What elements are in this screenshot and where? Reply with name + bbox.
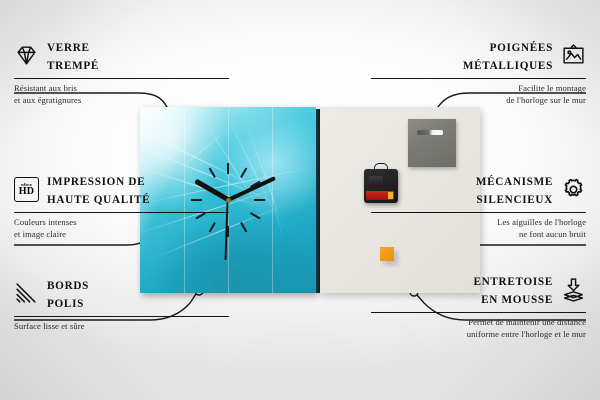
callout-subtitle: Permet de maintenir une distance uniform…	[371, 317, 586, 340]
diamond-icon	[14, 43, 39, 68]
callout-title: VERRE TREMPÉ	[47, 38, 99, 74]
callout-title: BORDS POLIS	[47, 276, 89, 312]
polished-edge-icon	[14, 281, 39, 306]
callout-entretoise-en-mousse: ENTRETOISE EN MOUSSE Permet de maintenir…	[371, 272, 586, 340]
callout-poignees-metalliques: POIGNÉES MÉTALLIQUES Facilite le montage…	[371, 38, 586, 106]
callout-divider	[371, 212, 586, 213]
gear-icon	[561, 177, 586, 202]
callout-divider	[14, 212, 229, 213]
callout-impression-haute-qualite: ultra HD IMPRESSION DE HAUTE QUALITÉ Cou…	[14, 172, 229, 240]
mechanism-hook	[374, 163, 388, 171]
infographic-canvas: VERRE TREMPÉ Résistant aux bris et aux é…	[0, 0, 600, 400]
callout-subtitle: Résistant aux bris et aux égratignures	[14, 83, 229, 106]
callout-title: IMPRESSION DE HAUTE QUALITÉ	[47, 172, 150, 208]
hanger-plate-part	[408, 119, 456, 167]
callout-title: ENTRETOISE EN MOUSSE	[473, 272, 553, 308]
callout-divider	[14, 78, 229, 79]
callout-verre-trempe: VERRE TREMPÉ Résistant aux bris et aux é…	[14, 38, 229, 106]
callout-subtitle: Couleurs intenses et image claire	[14, 217, 229, 240]
callout-mecanisme-silencieux: MÉCANISME SILENCIEUX Les aiguilles de l'…	[371, 172, 586, 240]
callout-title: POIGNÉES MÉTALLIQUES	[463, 38, 553, 74]
foam-spacer-part	[380, 247, 394, 261]
foam-spacer-icon	[561, 277, 586, 302]
callout-title: MÉCANISME SILENCIEUX	[476, 172, 553, 208]
callout-subtitle: Facilite le montage de l'horloge sur le …	[371, 83, 586, 106]
callout-divider	[14, 316, 229, 317]
callout-subtitle: Surface lisse et sûre	[14, 321, 229, 333]
callout-subtitle: Les aiguilles de l'horloge ne font aucun…	[371, 217, 586, 240]
callout-head: VERRE TREMPÉ	[14, 38, 229, 74]
callout-bords-polis: BORDS POLIS Surface lisse et sûre	[14, 276, 229, 333]
callout-divider	[371, 312, 586, 313]
callout-divider	[371, 78, 586, 79]
callout-head: BORDS POLIS	[14, 276, 229, 312]
callout-head: ultra HD IMPRESSION DE HAUTE QUALITÉ	[14, 172, 229, 208]
callout-head: MÉCANISME SILENCIEUX	[371, 172, 586, 208]
ultra-hd-icon: ultra HD	[14, 177, 39, 202]
callout-head: ENTRETOISE EN MOUSSE	[371, 272, 586, 308]
picture-frame-hanger-icon	[561, 43, 586, 68]
callout-head: POIGNÉES MÉTALLIQUES	[371, 38, 586, 74]
